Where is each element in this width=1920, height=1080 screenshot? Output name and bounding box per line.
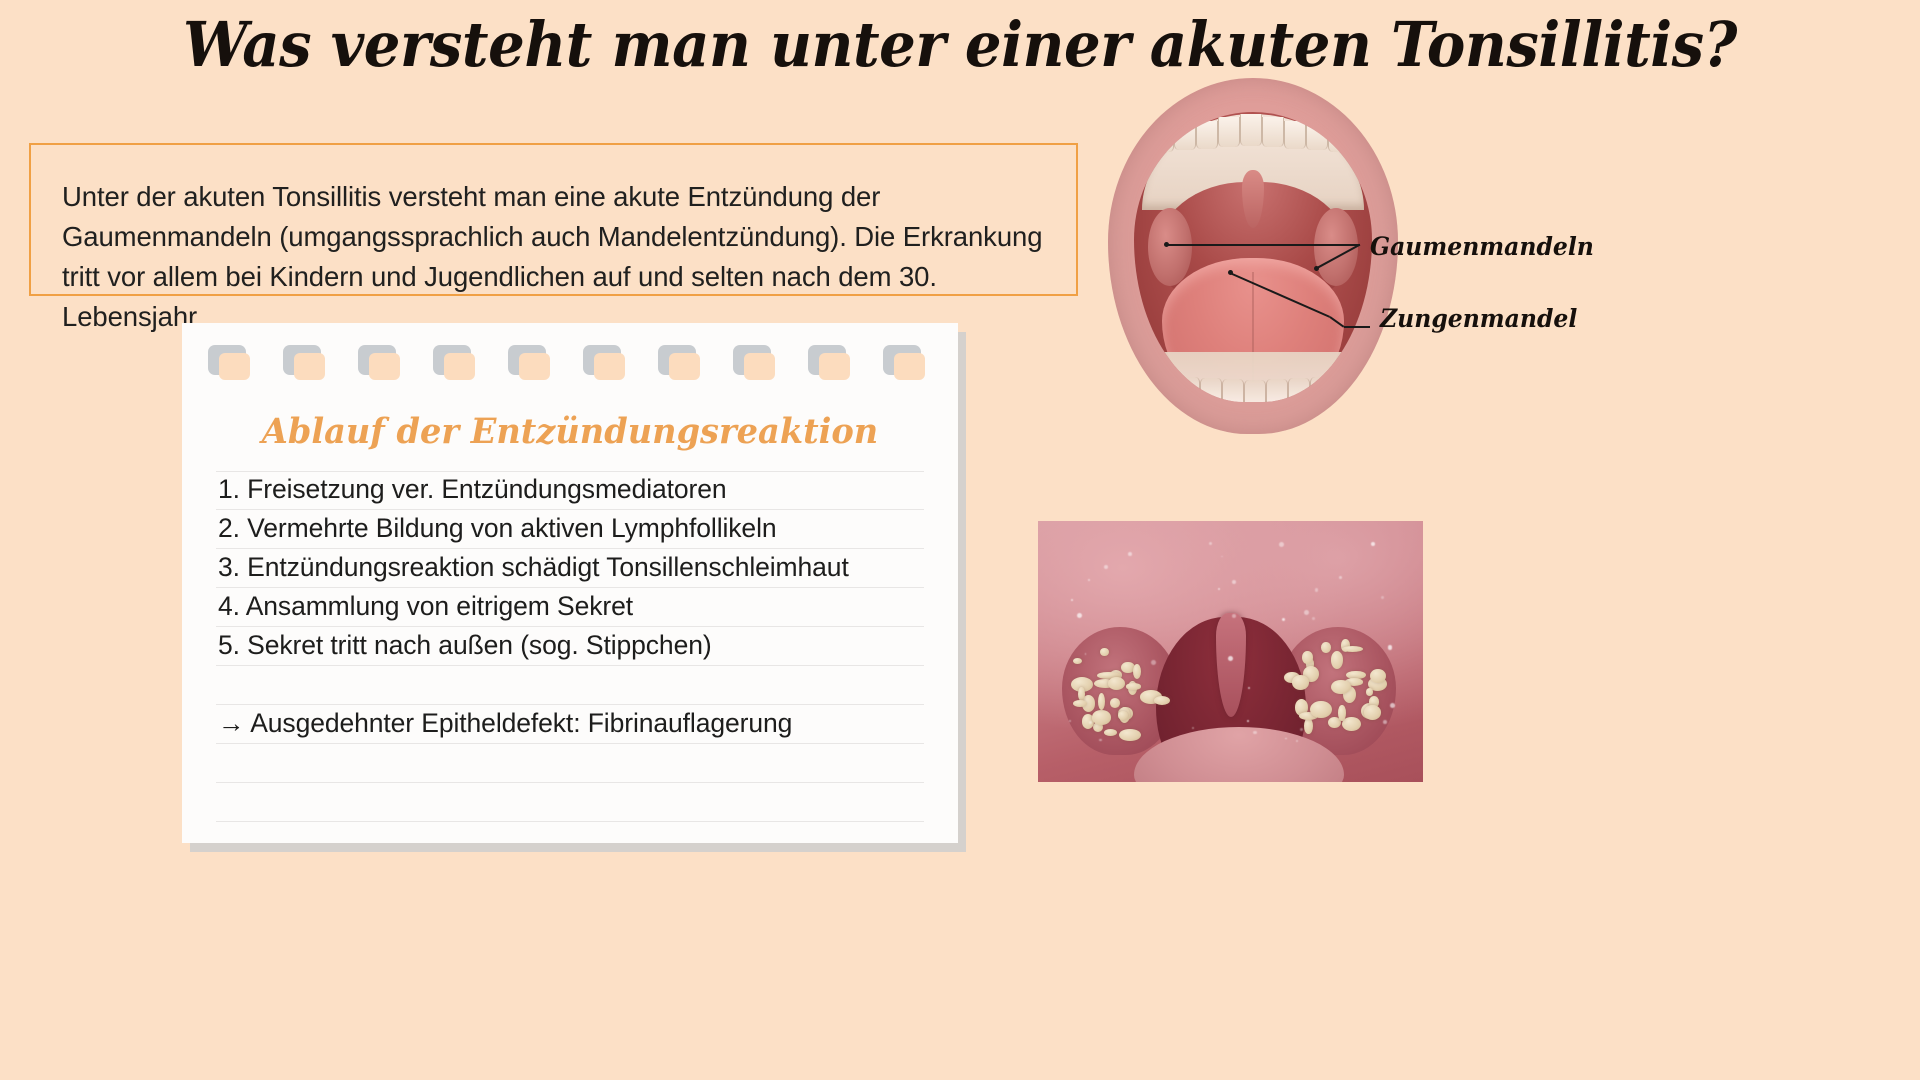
photo-specular-highlight [1304,610,1309,615]
leader-line-gaumenmandeln-main [1166,244,1360,246]
photo-exudate-spot [1304,718,1312,734]
photo-specular-highlight [1085,653,1087,655]
photo-exudate-spot [1302,651,1312,664]
notepad-binding-tab [658,345,696,375]
notepad-binding-tabs [182,345,958,385]
photo-exudate-spot [1321,642,1330,653]
page-title: Was versteht man unter einer akuten Tons… [67,8,1853,81]
notepad-line-text: 4. Ansammlung von eitrigem Sekret [218,591,633,622]
photo-specular-highlight [1228,656,1233,661]
notepad-blank-line [216,666,924,705]
photo-exudate-spot [1364,705,1381,720]
notepad-list-item: 1. Freisetzung ver. Entzündungsmediatore… [216,471,924,510]
notepad-list-item: 4. Ansammlung von eitrigem Sekret [216,588,924,627]
notepad-card: Ablauf der Entzündungsreaktion 1. Freise… [182,323,958,843]
photo-exudate-spot [1073,700,1087,707]
photo-specular-highlight [1151,660,1156,665]
tonsillitis-clinical-photo [1038,521,1423,782]
intro-text-box: Unter der akuten Tonsillitis versteht ma… [29,143,1078,296]
notepad-binding-tab [808,345,846,375]
photo-specular-highlight [1390,703,1395,708]
anatomy-label-zungenmandel: Zungenmandel [1380,304,1577,333]
photo-exudate-spot [1331,651,1343,669]
notepad-line-text: 2. Vermehrte Bildung von aktiven Lymphfo… [218,513,777,544]
notepad-binding-tab [208,345,246,375]
photo-specular-highlight [1339,576,1342,579]
notepad-list-item: 2. Vermehrte Bildung von aktiven Lymphfo… [216,510,924,549]
notepad-blank-line [216,744,924,783]
notepad-list-item: 5. Sekret tritt nach außen (sog. Stippch… [216,627,924,666]
notepad-line-text: 5. Sekret tritt nach außen (sog. Stippch… [218,630,712,661]
notepad-list-item: 3. Entzündungsreaktion schädigt Tonsille… [216,549,924,588]
photo-specular-highlight [1247,720,1249,722]
leader-line-gaumenmandeln-branch [1316,244,1361,269]
notepad-line-text: → Ausgedehnter Epitheldefekt: Fibrinaufl… [218,708,792,739]
notepad-binding-tab [583,345,621,375]
photo-specular-highlight [1128,552,1132,556]
photo-specular-highlight [1296,740,1298,742]
notepad-binding-tab [358,345,396,375]
leader-anchor-tonsil-right [1314,266,1319,271]
photo-specular-highlight [1253,731,1257,735]
anatomy-leader-lines: GaumenmandelnZungenmandel [1108,78,1578,434]
intro-paragraph: Unter der akuten Tonsillitis versteht ma… [62,177,1062,337]
notepad-ruled-lines: 1. Freisetzung ver. Entzündungsmediatore… [216,471,924,822]
photo-exudate-spot [1366,688,1373,695]
notepad-heading: Ablauf der Entzündungsreaktion [198,411,943,452]
notepad-binding-tab [433,345,471,375]
notepad-blank-line [216,783,924,822]
notepad-line-text: 3. Entzündungsreaktion schädigt Tonsille… [218,552,849,583]
photo-exudate-spot [1092,710,1111,724]
notepad-line-text: 1. Freisetzung ver. Entzündungsmediatore… [218,474,727,505]
leader-line-zungenmandel-b [1330,316,1345,327]
leader-line-zungenmandel-a [1230,272,1331,317]
photo-specular-highlight [1248,687,1250,689]
notepad-binding-tab [508,345,546,375]
photo-exudate-spot [1331,680,1351,694]
photo-exudate-spot [1338,705,1345,720]
notepad-list-item: → Ausgedehnter Epitheldefekt: Fibrinaufl… [216,705,924,744]
photo-specular-highlight [1192,727,1194,729]
anatomy-label-gaumenmandeln: Gaumenmandeln [1370,232,1594,261]
photo-exudate-spot [1154,696,1170,705]
notepad-binding-tab [733,345,771,375]
photo-exudate-spot [1126,683,1141,689]
photo-exudate-spot [1118,711,1128,720]
notepad-binding-tab [283,345,321,375]
photo-exudate-spot [1104,729,1118,736]
notepad-binding-tab [883,345,921,375]
leader-line-zungenmandel-c [1344,326,1370,328]
